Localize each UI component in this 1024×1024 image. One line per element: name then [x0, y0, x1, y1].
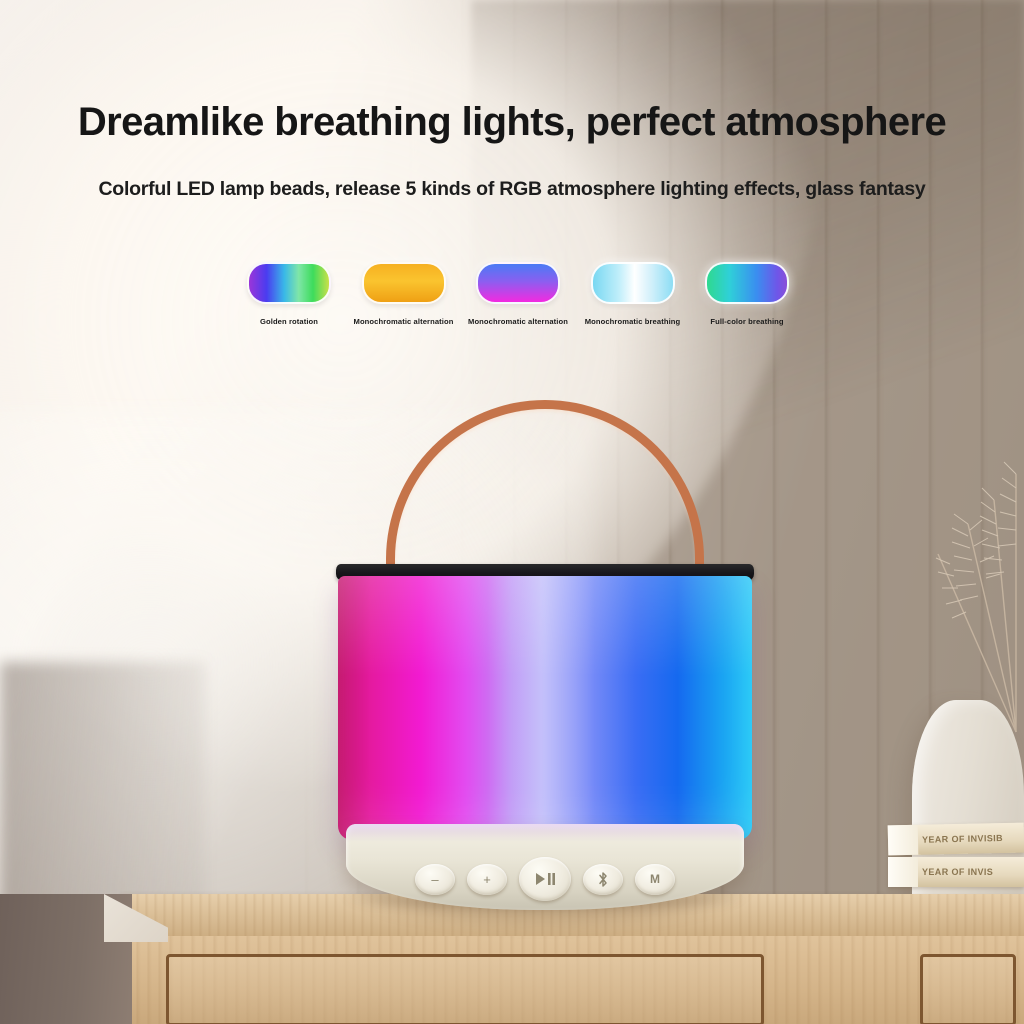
rainbow-gradient-pill-icon	[247, 262, 331, 304]
amber-solid-pill-icon	[362, 262, 446, 304]
green-blue-purple-gradient-pill-icon	[705, 262, 789, 304]
book-page-edge	[888, 825, 919, 856]
body-sheen-highlight	[338, 576, 752, 840]
page-headline: Dreamlike breathing lights, perfect atmo…	[0, 100, 1024, 145]
light-mode-option[interactable]: Full-color breathing	[694, 262, 800, 326]
rgb-bluetooth-speaker: – + M	[330, 400, 760, 920]
speaker-glowing-body	[338, 576, 752, 840]
light-mode-swatch-row: Golden rotation Monochromatic alternatio…	[236, 262, 800, 326]
book-page-edge	[888, 857, 918, 887]
light-mode-label: Monochromatic alternation	[468, 317, 568, 326]
cabinet-drawer	[920, 954, 1016, 1024]
light-mode-option[interactable]: Monochromatic alternation	[351, 262, 457, 326]
cyan-white-breathing-pill-icon	[591, 262, 675, 304]
bluetooth-icon	[597, 871, 609, 888]
light-mode-label: Full-color breathing	[710, 317, 783, 326]
mode-m-icon: M	[650, 873, 660, 885]
speaker-button-row: – + M	[346, 857, 744, 901]
play-pause-icon	[534, 871, 556, 887]
speaker-base: – + M	[346, 824, 744, 910]
wall-left-shade	[0, 662, 205, 928]
page-subheadline: Colorful LED lamp beads, release 5 kinds…	[0, 178, 1024, 201]
book-title: YEAR OF INVIS	[922, 867, 993, 877]
bluetooth-button[interactable]	[583, 864, 623, 895]
product-marketing-image: YEAR OF INVISIB YEAR OF INVIS –	[0, 0, 1024, 1024]
light-mode-option[interactable]: Golden rotation	[236, 262, 342, 326]
light-mode-label: Monochromatic alternation	[354, 317, 454, 326]
mode-button[interactable]: M	[635, 864, 675, 895]
light-mode-option[interactable]: Monochromatic alternation	[465, 262, 571, 326]
blue-magenta-gradient-pill-icon	[476, 262, 560, 304]
book: YEAR OF INVISIB	[888, 823, 1024, 856]
plus-icon: +	[483, 873, 491, 886]
light-mode-label: Monochromatic breathing	[585, 317, 681, 326]
volume-up-button[interactable]: +	[467, 864, 507, 895]
base-color-spill	[346, 824, 744, 842]
rope-handle	[386, 400, 704, 582]
cabinet-front-face	[130, 936, 1024, 1024]
volume-down-button[interactable]: –	[415, 864, 455, 895]
book: YEAR OF INVIS	[888, 857, 1024, 887]
dried-pampas-grass	[898, 404, 1024, 734]
play-pause-button[interactable]	[519, 857, 571, 901]
minus-icon: –	[431, 873, 438, 886]
book-title: YEAR OF INVISIB	[922, 833, 1003, 845]
book-stack: YEAR OF INVISIB YEAR OF INVIS	[888, 824, 1024, 898]
light-mode-label: Golden rotation	[260, 317, 318, 326]
cabinet-drawer	[166, 954, 764, 1024]
light-mode-option[interactable]: Monochromatic breathing	[580, 262, 686, 326]
